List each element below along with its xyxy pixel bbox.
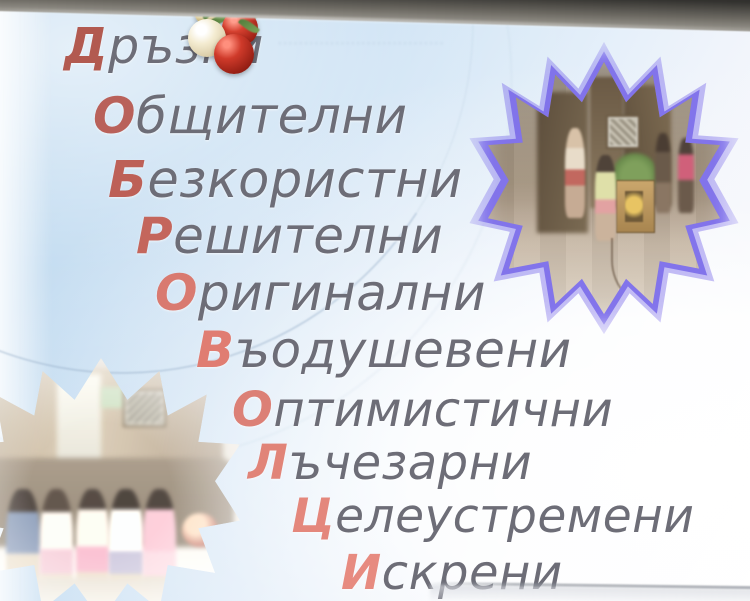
- acrostic-line: Безкористни: [108, 151, 463, 210]
- acrostic-line: Оптимистични: [232, 382, 613, 438]
- acrostic-word-remainder: бщителни: [136, 87, 407, 145]
- ornament-ball: [214, 34, 254, 74]
- acrostic-text-block: ДръзкиОбщителниБезкористниРешителниОриги…: [0, 0, 750, 601]
- acrostic-line: Общителни: [93, 87, 407, 145]
- acrostic-word-remainder: елеустремени: [335, 489, 694, 544]
- acrostic-initial-letter: О: [155, 264, 198, 322]
- acrostic-initial-letter: О: [232, 382, 273, 438]
- acrostic-word-remainder: ригинални: [198, 264, 486, 322]
- acrostic-initial-letter: Р: [136, 207, 173, 265]
- acrostic-word-remainder: езкористни: [147, 151, 462, 210]
- acrostic-initial-letter: И: [341, 545, 382, 601]
- acrostic-initial-letter: Л: [248, 435, 288, 491]
- acrostic-word-remainder: птимистични: [273, 382, 613, 438]
- acrostic-initial-letter: Ц: [291, 489, 335, 544]
- acrostic-line: Решителни: [136, 207, 443, 265]
- acrostic-line: Лъчезарни: [248, 435, 532, 491]
- acrostic-initial-letter: О: [93, 87, 136, 145]
- acrostic-word-remainder: ъодушевени: [235, 321, 572, 379]
- acrostic-initial-letter: Д: [64, 18, 108, 75]
- acrostic-word-remainder: ешителни: [173, 207, 443, 265]
- acrostic-word-remainder: ъчезарни: [288, 435, 532, 491]
- acrostic-line: Оригинални: [155, 264, 486, 322]
- acrostic-line: Въодушевени: [196, 321, 572, 379]
- acrostic-line: Целеустремени: [291, 489, 694, 544]
- acrostic-initial-letter: В: [196, 321, 235, 379]
- acrostic-initial-letter: Б: [108, 151, 147, 210]
- projected-slide-photo: ................................: [0, 0, 750, 601]
